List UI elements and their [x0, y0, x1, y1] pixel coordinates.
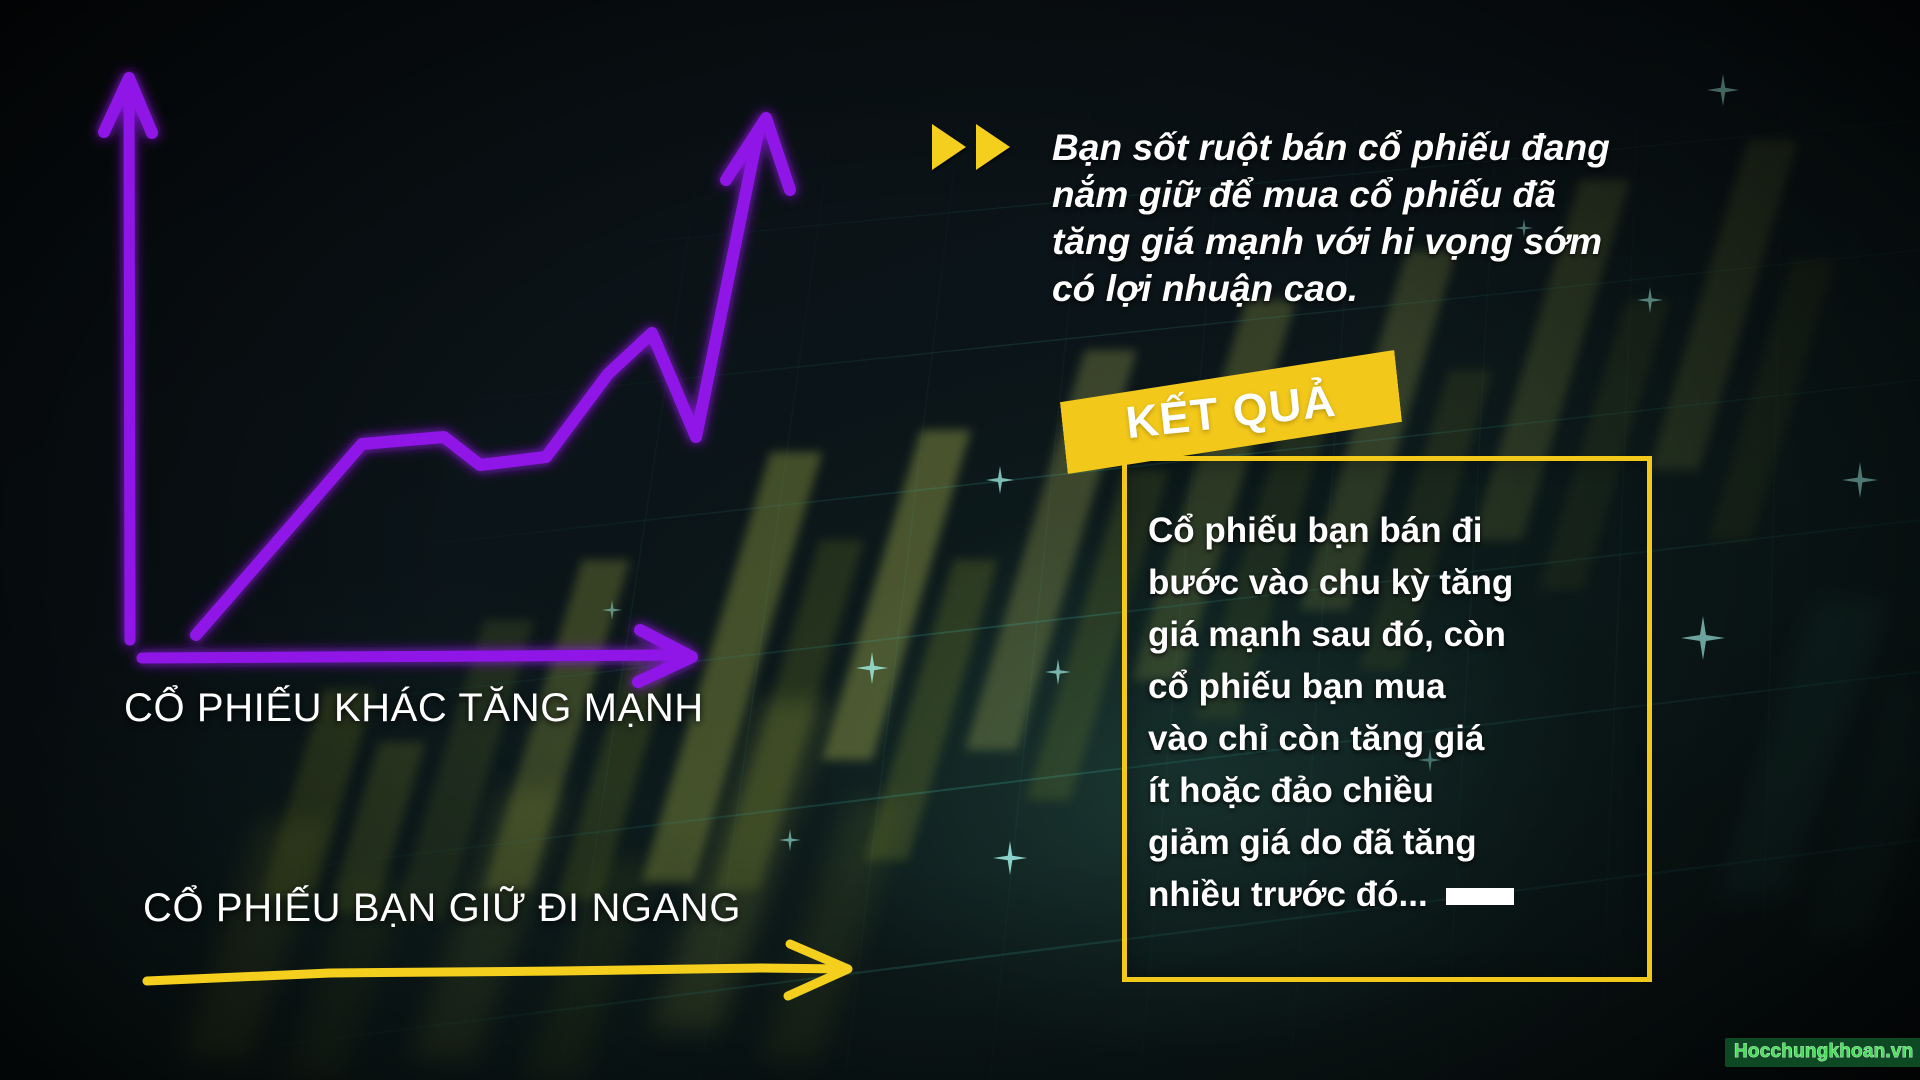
- intro-line: nắm giữ để mua cổ phiếu đã: [1052, 171, 1712, 218]
- label-your-stock: CỔ PHIẾU BẠN GIỮ ĐI NGANG: [143, 886, 741, 931]
- result-line: bước vào chu kỳ tăng: [1148, 557, 1648, 609]
- label-other-stock: CỔ PHIẾU KHÁC TĂNG MẠNH: [124, 686, 704, 731]
- ket-qua-text: KẾT QUẢ: [1123, 375, 1338, 449]
- result-line: vào chỉ còn tăng giá: [1148, 713, 1648, 765]
- intro-line: tăng giá mạnh với hi vọng sớm: [1052, 218, 1712, 265]
- intro-line: Bạn sốt ruột bán cổ phiếu đang: [1052, 124, 1712, 171]
- watermark: Hocchungkhoan.vn: [1725, 1038, 1920, 1067]
- text-cursor-block: [1446, 888, 1514, 905]
- watermark-text: Hocchungkhoan.vn: [1734, 1041, 1914, 1062]
- play-triangle-icon: [932, 124, 966, 170]
- result-last-line: nhiều trước đó...: [1148, 869, 1648, 921]
- result-line: giảm giá do đã tăng: [1148, 817, 1648, 869]
- intro-paragraph: Bạn sốt ruột bán cổ phiếu đang nắm giữ đ…: [1052, 124, 1712, 312]
- result-line: ít hoặc đảo chiều: [1148, 765, 1648, 817]
- result-line: Cổ phiếu bạn bán đi: [1148, 505, 1648, 557]
- result-last-line-text: nhiều trước đó...: [1148, 875, 1428, 914]
- play-triangle-icon: [976, 124, 1010, 170]
- poster-canvas: Bạn sốt ruột bán cổ phiếu đang nắm giữ đ…: [0, 0, 1920, 1080]
- result-line: giá mạnh sau đó, còn: [1148, 609, 1648, 661]
- result-line: cổ phiếu bạn mua: [1148, 661, 1648, 713]
- result-paragraph: Cổ phiếu bạn bán đi bước vào chu kỳ tăng…: [1148, 505, 1648, 921]
- intro-line: có lợi nhuận cao.: [1052, 265, 1712, 312]
- intro-play-arrows: [932, 124, 1010, 170]
